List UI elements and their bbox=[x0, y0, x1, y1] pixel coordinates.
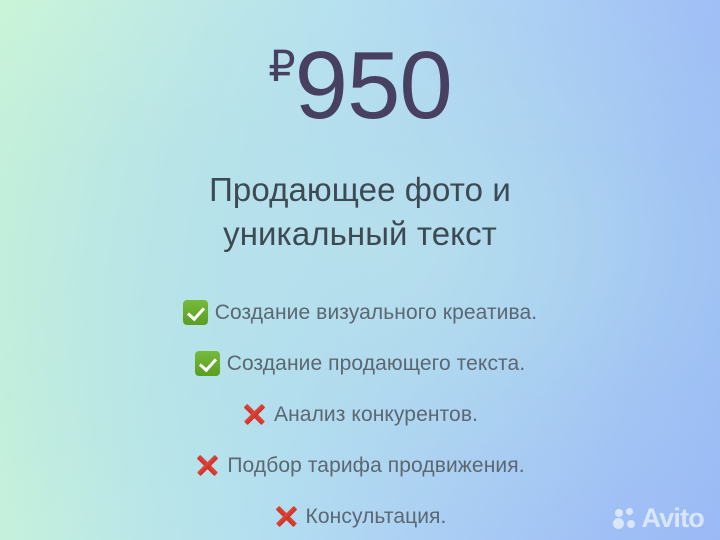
feature-label: Подбор тарифа продвижения. bbox=[227, 454, 524, 478]
price-amount: 950 bbox=[295, 32, 452, 139]
headline: Продающее фото и уникальный текст bbox=[0, 168, 720, 255]
feature-label: Создание продающего текста. bbox=[227, 352, 526, 376]
feature-label: Консультация. bbox=[306, 505, 447, 529]
feature-label: Анализ конкурентов. bbox=[274, 403, 478, 427]
headline-line-2: уникальный текст bbox=[60, 212, 660, 256]
check-icon bbox=[183, 300, 208, 325]
feature-list: Создание визуального креатива. Создание … bbox=[0, 287, 720, 540]
avito-logo-dot bbox=[627, 520, 635, 528]
avito-logo-dot bbox=[626, 508, 633, 515]
feature-row: Анализ конкурентов. bbox=[24, 389, 696, 440]
feature-row: Консультация. bbox=[24, 491, 696, 540]
price-block: ₽950 bbox=[0, 38, 720, 134]
avito-watermark: Avito bbox=[613, 505, 705, 532]
cross-icon bbox=[195, 453, 220, 478]
headline-line-1: Продающее фото и bbox=[60, 168, 660, 212]
avito-logo-dot bbox=[613, 518, 624, 529]
avito-logo-dot bbox=[615, 509, 623, 517]
advertisement-poster: ₽950 Продающее фото и уникальный текст С… bbox=[0, 0, 720, 540]
feature-row: Подбор тарифа продвижения. bbox=[24, 440, 696, 491]
feature-row: Создание визуального креатива. bbox=[24, 287, 696, 338]
cross-icon bbox=[242, 402, 267, 427]
price-value: ₽950 bbox=[268, 38, 452, 134]
ruble-currency-symbol: ₽ bbox=[268, 43, 294, 91]
feature-row: Создание продающего текста. bbox=[24, 338, 696, 389]
check-icon bbox=[195, 351, 220, 376]
cross-icon bbox=[274, 504, 299, 529]
avito-logo-icon bbox=[613, 507, 639, 531]
avito-wordmark: Avito bbox=[642, 505, 705, 532]
feature-label: Создание визуального креатива. bbox=[215, 301, 538, 325]
